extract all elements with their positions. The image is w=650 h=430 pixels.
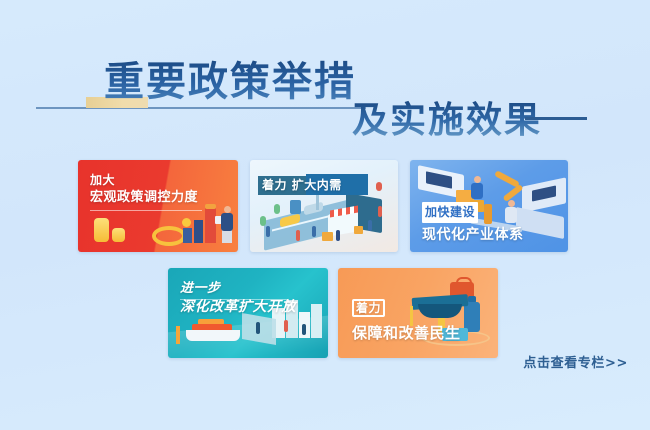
parcel-box-2 (354, 226, 363, 234)
card5-label-line1: 着力 (352, 298, 461, 318)
view-column-link[interactable]: 点击查看专栏>> (523, 352, 628, 371)
pedestrian-4 (336, 230, 340, 241)
person-head (224, 206, 231, 213)
person-body (221, 213, 233, 231)
card5-label-line2: 保障和改善民生 (352, 323, 461, 343)
parcel-box-1 (322, 232, 333, 241)
policy-card-expand-domestic-demand[interactable]: 着力 扩大内需 (250, 160, 398, 252)
skyline-building-4 (311, 304, 322, 338)
card1-label-line1: 加大 (90, 172, 198, 189)
policy-measures-banner: 重要政策举措 及实施效果 加大 宏观政策调控力度 (0, 0, 650, 430)
figure-3 (302, 324, 306, 335)
pedestrian-3 (312, 226, 316, 237)
card2-label-line2: 扩大内需 (292, 178, 342, 192)
figure-1 (256, 322, 260, 334)
card4-label-line2: 深化改革扩大开放 (180, 298, 296, 316)
bar-chart-bar-1 (183, 228, 192, 243)
page-title-line1: 重要政策举措 (104, 58, 356, 106)
card3-label-line2: 现代化产业体系 (422, 226, 524, 245)
cargo-ship-hull (186, 330, 240, 341)
card4-label-line1: 进一步 (180, 280, 296, 298)
tree-icon-2 (260, 216, 266, 226)
small-coin-icon (182, 218, 191, 227)
worker-1-body (471, 183, 483, 199)
figure-2 (284, 320, 288, 332)
pedestrian-5 (368, 220, 372, 231)
policy-card-improve-peoples-livelihood[interactable]: 着力 保障和改善民生 (338, 268, 498, 358)
bar-chart-bar-3 (205, 207, 216, 243)
card2-label: 着力 扩大内需 (262, 177, 342, 194)
balloon-icon (376, 182, 382, 191)
coin-stack-tall-icon (94, 218, 109, 242)
street-pole (316, 194, 319, 210)
card1-label-underline (90, 210, 202, 211)
bar-chart-bar-3-cap (205, 204, 216, 209)
kiosk-screen-icon (290, 200, 301, 214)
coin-stack-short-icon (112, 228, 125, 242)
person-legs (222, 230, 232, 243)
card3-label-line1: 加快建设 (422, 202, 478, 223)
card1-label-line2: 宏观政策调控力度 (90, 189, 198, 206)
card4-label: 进一步 深化改革扩大开放 (180, 280, 296, 316)
card3-label: 加快建设 现代化产业体系 (422, 202, 524, 245)
policy-card-macro-policy[interactable]: 加大 宏观政策调控力度 (78, 160, 238, 252)
dock-pillar (176, 326, 180, 344)
coin-ring-icon (152, 226, 186, 246)
card2-label-line1: 着力 (262, 178, 287, 192)
pedestrian-1 (266, 226, 270, 237)
bar-chart-bar-2 (194, 220, 203, 243)
pedestrian-2 (296, 230, 300, 241)
policy-card-deepen-reform-opening[interactable]: 进一步 深化改革扩大开放 (168, 268, 328, 358)
tree-icon-1 (274, 204, 280, 214)
worker-1-head (474, 176, 481, 183)
policy-card-modern-industrial-system[interactable]: 加快建设 现代化产业体系 (410, 160, 568, 252)
page-title-line2: 及实施效果 (352, 98, 542, 142)
pedestrian-6 (378, 206, 382, 217)
card5-label-line1-text: 着力 (352, 299, 385, 317)
card1-label: 加大 宏观政策调控力度 (90, 172, 198, 206)
card5-label: 着力 保障和改善民生 (352, 298, 461, 343)
title-rule-right (525, 117, 587, 120)
banner-title-block: 重要政策举措 及实施效果 (0, 58, 650, 148)
